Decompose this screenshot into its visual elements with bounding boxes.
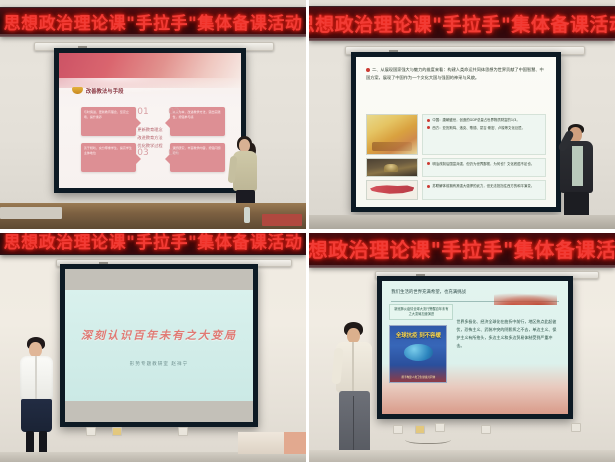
- slide-bottom-right: 我们生活的世界充满希望，也充满挑战 新冠肺炎疫情全球大流行警醒百年未有之大变局加…: [382, 281, 568, 414]
- panel-top-left: 思想政治理论课"手拉手"集体备课活动 改善教法与手段 与时俱进，更新教育理念，坚…: [0, 0, 306, 229]
- bullet-dot-icon: [366, 68, 370, 72]
- slide-row: 明治改制后国富兵强，但仍为世界鄙视，为何也？文化底蕴不足也。: [366, 158, 546, 177]
- slide-subtitle: 形势专题教研室 赵祥宁: [65, 361, 253, 367]
- wall-socket: [571, 423, 581, 432]
- led-banner-text: 思想政治理论课"手拉手"集体备课活动: [4, 9, 303, 34]
- floor-strip: [309, 215, 615, 229]
- panel-bottom-left: 思想政治理论课"手拉手"集体备课活动 深刻认识百年未有之大变局 形势专题教研室 …: [0, 233, 306, 462]
- led-banner-bottom-right: 思想政治理论课"手拉手"集体备课活动: [309, 233, 615, 267]
- presenter-figure: [333, 322, 377, 462]
- bullet-text-2: 西方：亚历斯鸠、洛克、歌德、蒙吉·斯密、卢梭等文化巨匠。: [432, 126, 525, 130]
- slide-center-line-2: 改进教育方法: [137, 135, 162, 142]
- led-banner-text: 思想政治理论课"手拉手"集体备课活动: [309, 234, 615, 263]
- process-box-03: 善于倾听，充分尊重学生，提高学生主体地位: [81, 143, 136, 172]
- wall-socket: [178, 427, 188, 436]
- slide-center-line-3: 优化教学过程: [137, 143, 162, 150]
- cable: [405, 433, 451, 444]
- thumbnail-portrait: [366, 158, 418, 177]
- process-num-01: 01: [137, 107, 148, 117]
- cabinet-panel: [284, 432, 306, 454]
- slide-header-ribbon: [59, 53, 241, 88]
- logo-icon: [72, 87, 83, 94]
- bullet-text-1: 中国：唐朝盛世，创造的GDP总量占世界物质财富的1/3。: [432, 118, 519, 122]
- bullet-dot-icon: [427, 185, 430, 188]
- desk-folder: [262, 214, 302, 226]
- slide-header-text: 改善教法与手段: [86, 87, 124, 95]
- process-num-04: 04: [168, 148, 179, 158]
- bullet-group-2: 明治改制后国富兵强，但仍为世界鄙视，为何也？文化底蕴不足也。: [422, 158, 546, 177]
- slide-header: 我们生活的世界充满希望，也充满挑战: [391, 289, 466, 295]
- desk-paper: [0, 207, 62, 219]
- photo-collage: 思想政治理论课"手拉手"集体备课活动 改善教法与手段 与时俱进，更新教育理念，坚…: [0, 0, 615, 462]
- wall-socket: [112, 427, 122, 436]
- projection-screen: 我们生活的世界充满希望，也充满挑战 新冠肺炎疫情全球大流行警醒百年未有之大变局加…: [377, 276, 573, 419]
- slide-header: 改善教法与手段: [72, 87, 124, 95]
- blouse-placket: [352, 342, 354, 391]
- slide-note: 新冠肺炎疫情全球大流行警醒百年未有之大变局加速演进: [389, 304, 453, 320]
- slide-bottom-left: 深刻认识百年未有之大变局 形势专题教研室 赵祥宁: [65, 269, 253, 422]
- bullet-dot-icon: [427, 119, 430, 122]
- projection-screen: 改善教法与手段 与时俱进，更新教育理念，坚定立场，提升素养 01 以人为本，改进…: [54, 48, 246, 193]
- slide-header-text: 二、从展现国家强大与魅力的维度来看：构建人类命运共同体思想为世界贡献了中国智慧、…: [366, 67, 544, 80]
- poster-footer: 携手构建人类卫生健康共同体: [390, 376, 446, 380]
- slide-top-right: 二、从展现国家强大与魅力的维度来看：构建人类命运共同体思想为世界贡献了中国智慧、…: [356, 57, 556, 207]
- slide-top-band: [65, 269, 253, 290]
- presenter-figure: [555, 124, 599, 229]
- presenter-figure: [16, 337, 58, 462]
- process-num-02: 02: [168, 107, 179, 117]
- slide-row: 中国：唐朝盛世，创造的GDP总量占世界物质财富的1/3。 西方：亚历斯鸠、洛克、…: [366, 114, 546, 155]
- slide-center-line-1: 更新教育理念: [137, 127, 162, 134]
- slide-body: 中国：唐朝盛世，创造的GDP总量占世界物质财富的1/3。 西方：亚历斯鸠、洛克、…: [366, 114, 546, 200]
- floor-strip: [309, 450, 615, 462]
- thumbnail-ussr-map: [366, 180, 418, 199]
- wall-socket: [86, 427, 96, 436]
- bullet-group-3: 苏联解体前拥有其强大强悍的武力，但无法抵挡住西方的和平演变。: [422, 180, 546, 199]
- slide-top-left: 改善教法与手段 与时俱进，更新教育理念，坚定立场，提升素养 01 以人为本，改进…: [59, 53, 241, 188]
- mountain-decoration-icon: [494, 293, 557, 305]
- led-banner-text: 思想政治理论课"手拉手"集体备课活动: [4, 233, 303, 253]
- bullet-group-1: 中国：唐朝盛世，创造的GDP总量占世界物质财富的1/3。 西方：亚历斯鸠、洛克、…: [422, 114, 546, 155]
- poster-title: 全球抗疫 刻不容缓: [390, 333, 446, 340]
- slide-header: 二、从展现国家强大与魅力的维度来看：构建人类命运共同体思想为世界贡献了中国智慧、…: [366, 66, 546, 82]
- slide-bottom-band: [65, 401, 253, 422]
- panel-bottom-right: 思想政治理论课"手拉手"集体备课活动 我们生活的世界充满希望，也充满挑战 新冠肺…: [309, 233, 615, 462]
- led-banner-top-right: 思想政治理论课"手拉手"集体备课活动: [309, 6, 615, 40]
- slide-paragraph: 世界多极化、经济全球化在曲折中前行，地区热点此起彼伏，恐怖主义、武装冲突的阴影挥…: [456, 318, 558, 350]
- slide-title: 深刻认识百年未有之大变局: [65, 327, 253, 343]
- process-box-01: 与时俱进，更新教育理念，坚定立场，提升素养: [81, 107, 136, 136]
- bullet-dot-icon: [427, 162, 430, 165]
- wall-socket: [435, 423, 445, 432]
- blouse-placket: [35, 356, 37, 399]
- slide-row: 苏联解体前拥有其强大强悍的武力，但无法抵挡住西方的和平演变。: [366, 180, 546, 199]
- water-bottle: [244, 207, 250, 223]
- wall-socket: [481, 425, 491, 434]
- panel-top-right: 思想政治理论课"手拉手"集体备课活动 二、从展现国家强大与魅力的维度来看：构建人…: [309, 0, 615, 229]
- globe-icon: [404, 344, 433, 361]
- shirt: [572, 146, 583, 186]
- bullet-dot-icon: [427, 126, 430, 129]
- led-banner-top-left: 思想政治理论课"手拉手"集体备课活动: [0, 7, 306, 36]
- thumbnail-tang-painting: [366, 114, 418, 155]
- led-banner-bottom-left: 思想政治理论课"手拉手"集体备课活动: [0, 233, 306, 255]
- wall-socket: [393, 425, 403, 434]
- poster-image: 全球抗疫 刻不容缓 携手构建人类卫生健康共同体: [389, 325, 447, 383]
- skirt: [21, 399, 52, 432]
- bullet-text-4: 苏联解体前拥有其强大强悍的武力，但无法抵挡住西方的和平演变。: [432, 184, 534, 188]
- led-banner-text: 思想政治理论课"手拉手"集体备课活动: [309, 10, 615, 37]
- slide-body: [65, 290, 253, 400]
- bullet-text-3: 明治改制后国富兵强，但仍为世界鄙视，为何也？文化底蕴不足也。: [432, 162, 534, 166]
- projection-screen: 深刻认识百年未有之大变局 形势专题教研室 赵祥宁: [60, 264, 258, 427]
- projection-screen: 二、从展现国家强大与魅力的维度来看：构建人类命运共同体思想为世界贡献了中国智慧、…: [351, 52, 561, 212]
